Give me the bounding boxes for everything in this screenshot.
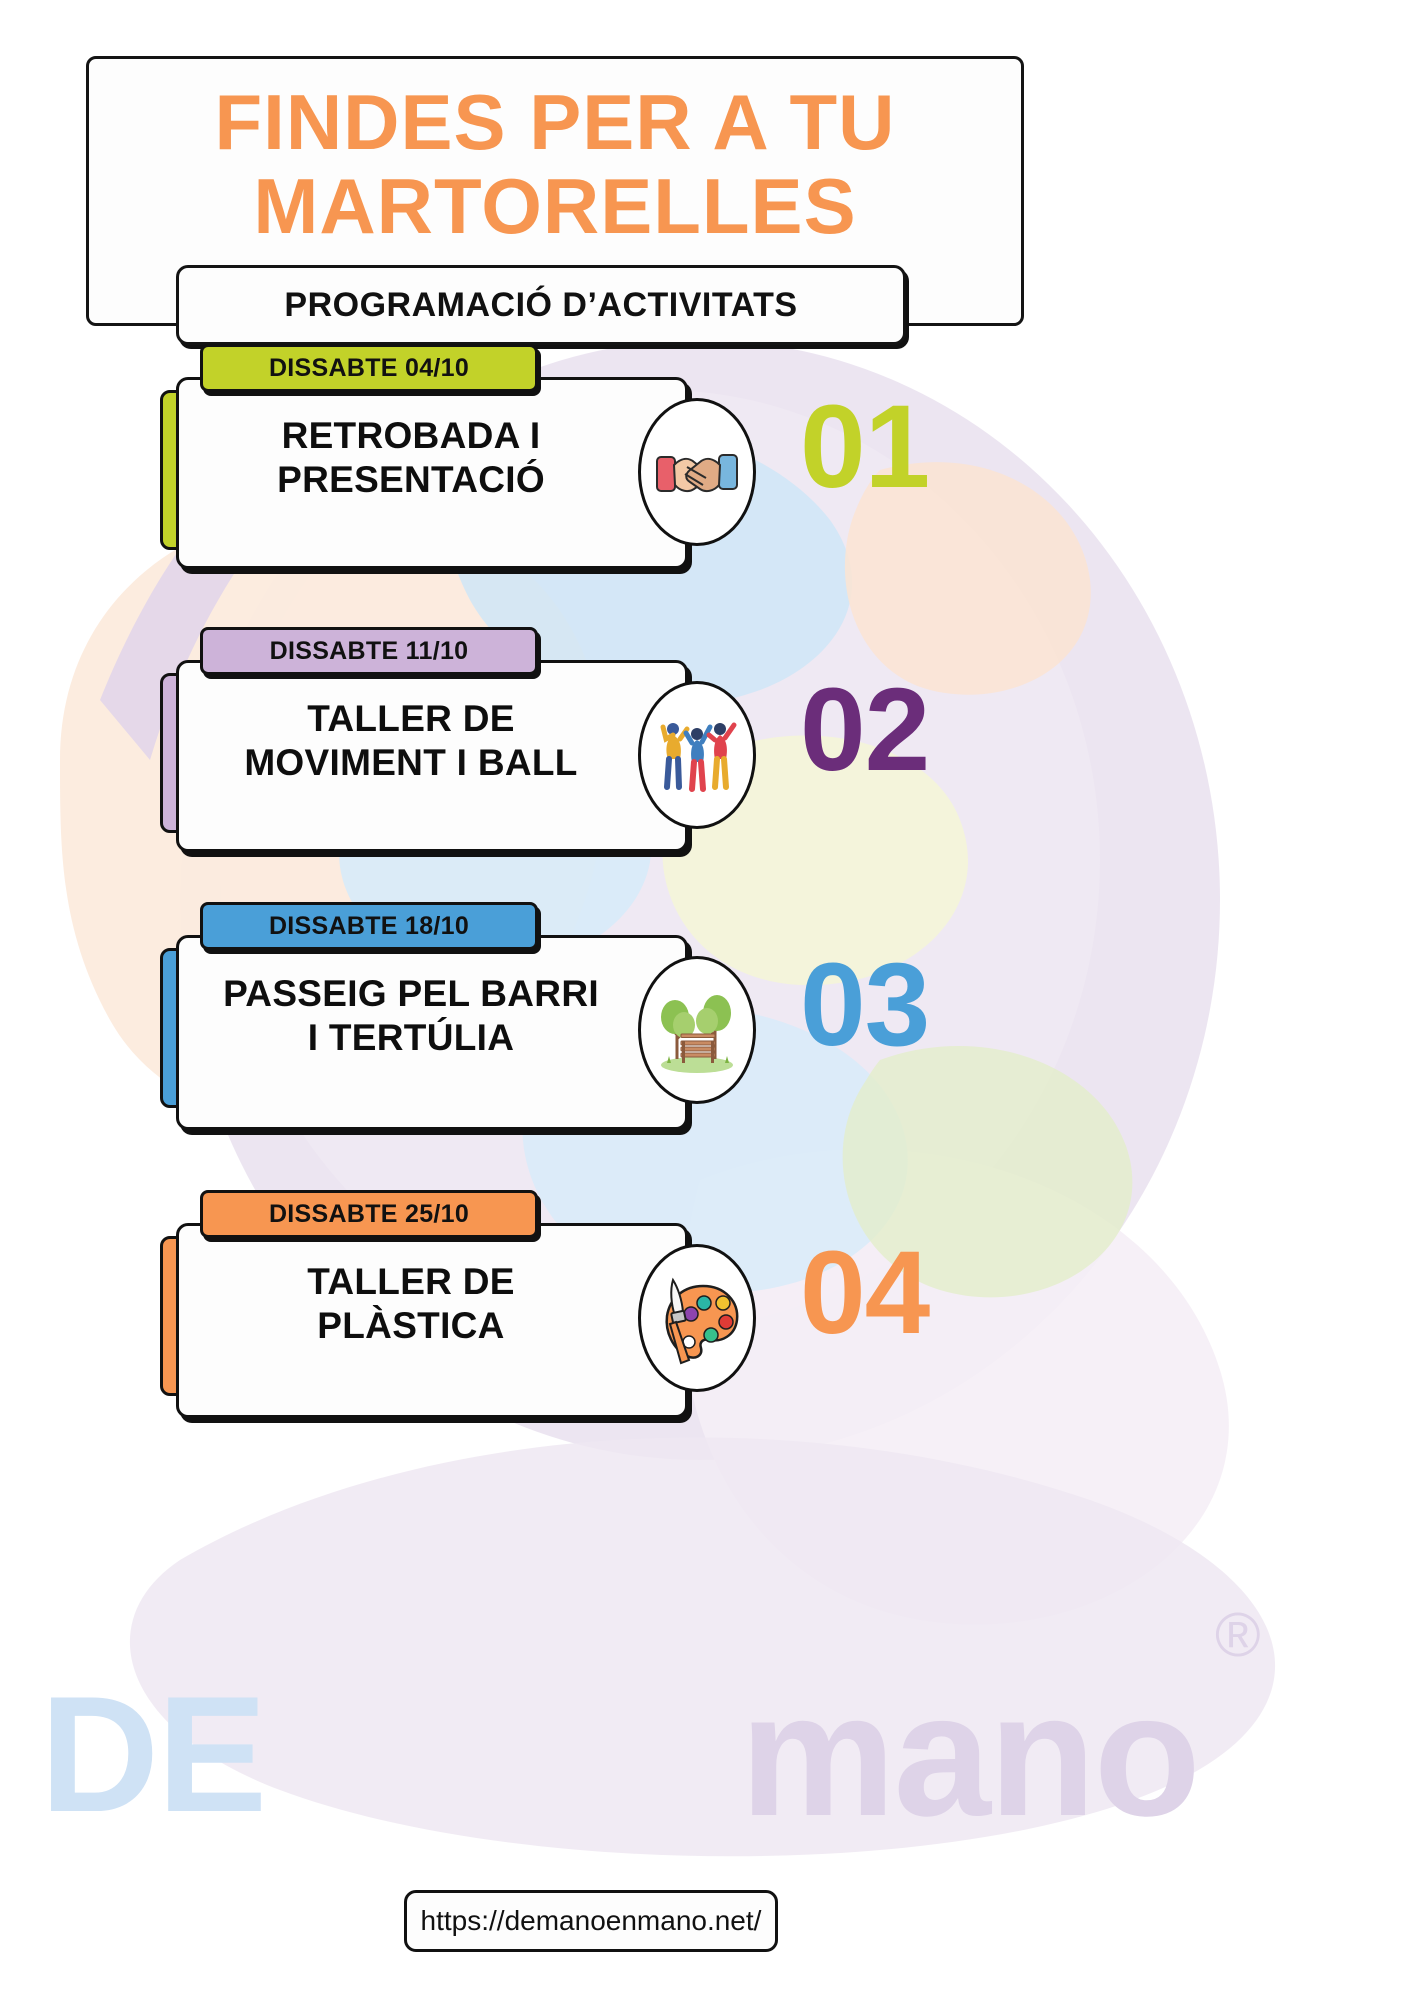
- park-bench-icon: [651, 983, 743, 1077]
- date-label: DISSABTE 25/10: [269, 1200, 469, 1229]
- activity-title: RETROBADA I PRESENTACIÓ: [196, 414, 626, 501]
- activity-number: 03: [800, 946, 1100, 1064]
- website-url: https://demanoenmano.net/: [421, 1905, 762, 1937]
- date-badge: DISSABTE 04/10: [200, 344, 538, 392]
- activity-title-line-1: TALLER DE: [196, 697, 626, 741]
- handshake-icon: [654, 437, 740, 507]
- activity-card-01[interactable]: DISSABTE 04/10 RETROBADA I PRESENTACIÓ 0…: [0, 362, 1414, 612]
- activity-number: 04: [800, 1234, 1100, 1352]
- activity-title-line-2: I TERTÚLIA: [196, 1016, 626, 1060]
- activity-title: PASSEIG PEL BARRI I TERTÚLIA: [196, 972, 626, 1059]
- activity-card-03[interactable]: DISSABTE 18/10 PASSEIG PEL BARRI I TERTÚ…: [0, 920, 1414, 1170]
- date-badge: DISSABTE 11/10: [200, 627, 538, 675]
- activity-title-line-2: MOVIMENT I BALL: [196, 741, 626, 785]
- dancers-icon: [654, 709, 740, 801]
- subtitle-text: PROGRAMACIÓ D’ACTIVITATS: [284, 286, 797, 325]
- activity-icon-frame: [638, 681, 756, 829]
- page-title: FINDES PER A TU MARTORELLES: [86, 60, 1024, 248]
- date-label: DISSABTE 18/10: [269, 912, 469, 941]
- activity-title-line-1: RETROBADA I: [196, 414, 626, 458]
- page-title-line-1: FINDES PER A TU: [86, 80, 1024, 164]
- activity-number: 01: [800, 388, 1100, 506]
- activity-title-line-2: PLÀSTICA: [196, 1304, 626, 1348]
- activity-icon-frame: [638, 398, 756, 546]
- paint-palette-icon: [651, 1270, 743, 1366]
- date-badge: DISSABTE 18/10: [200, 902, 538, 950]
- activity-title-line-2: PRESENTACIÓ: [196, 458, 626, 502]
- activity-number: 02: [800, 671, 1100, 789]
- activity-icon-frame: [638, 1244, 756, 1392]
- activity-title: TALLER DE PLÀSTICA: [196, 1260, 626, 1347]
- activity-title: TALLER DE MOVIMENT I BALL: [196, 697, 626, 784]
- subtitle-box: PROGRAMACIÓ D’ACTIVITATS: [176, 265, 906, 345]
- date-label: DISSABTE 11/10: [270, 637, 469, 666]
- date-badge: DISSABTE 25/10: [200, 1190, 538, 1238]
- activity-card-02[interactable]: DISSABTE 11/10 TALLER DE MOVIMENT I BALL: [0, 645, 1414, 895]
- website-url-box[interactable]: https://demanoenmano.net/: [404, 1890, 778, 1952]
- activity-title-line-1: PASSEIG PEL BARRI: [196, 972, 626, 1016]
- activity-card-04[interactable]: DISSABTE 25/10 TALLER DE PLÀSTICA: [0, 1208, 1414, 1458]
- activity-title-line-1: TALLER DE: [196, 1260, 626, 1304]
- page-title-line-2: MARTORELLES: [86, 164, 1024, 248]
- date-label: DISSABTE 04/10: [269, 354, 469, 383]
- activity-icon-frame: [638, 956, 756, 1104]
